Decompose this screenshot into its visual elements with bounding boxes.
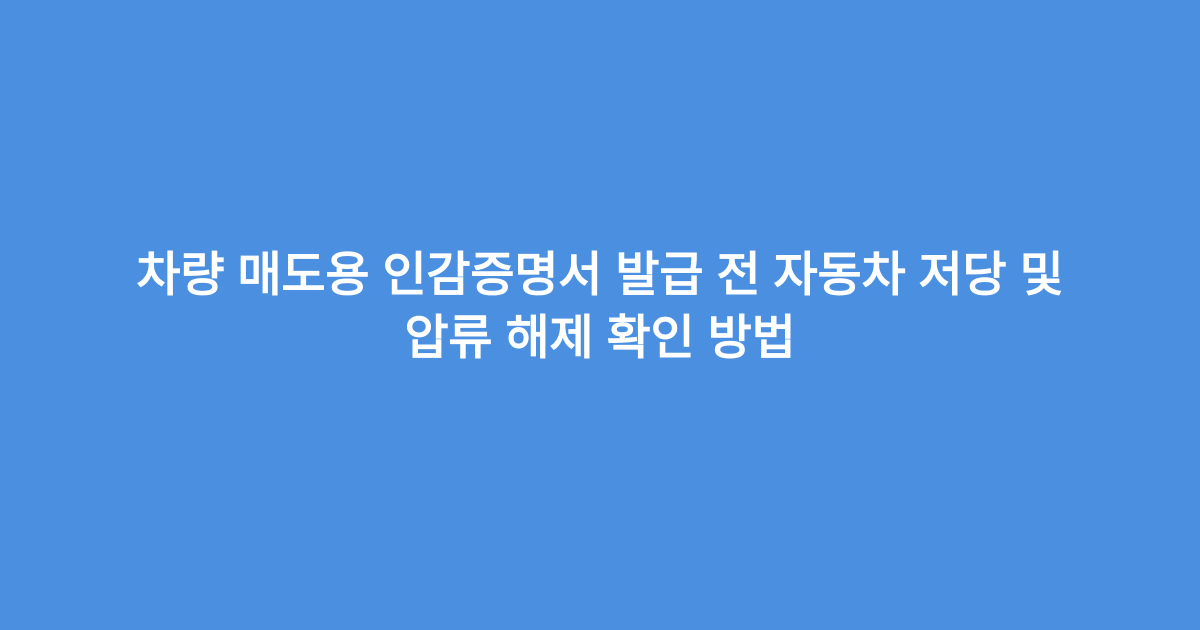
- page-title-line-2: 압류 해제 확인 방법: [72, 307, 1128, 370]
- page-title-line-1: 차량 매도용 인감증명서 발급 전 자동차 저당 및: [72, 244, 1128, 307]
- page-title: 차량 매도용 인감증명서 발급 전 자동차 저당 및 압류 해제 확인 방법: [0, 244, 1200, 370]
- og-thumbnail-card: 차량 매도용 인감증명서 발급 전 자동차 저당 및 압류 해제 확인 방법: [0, 0, 1200, 630]
